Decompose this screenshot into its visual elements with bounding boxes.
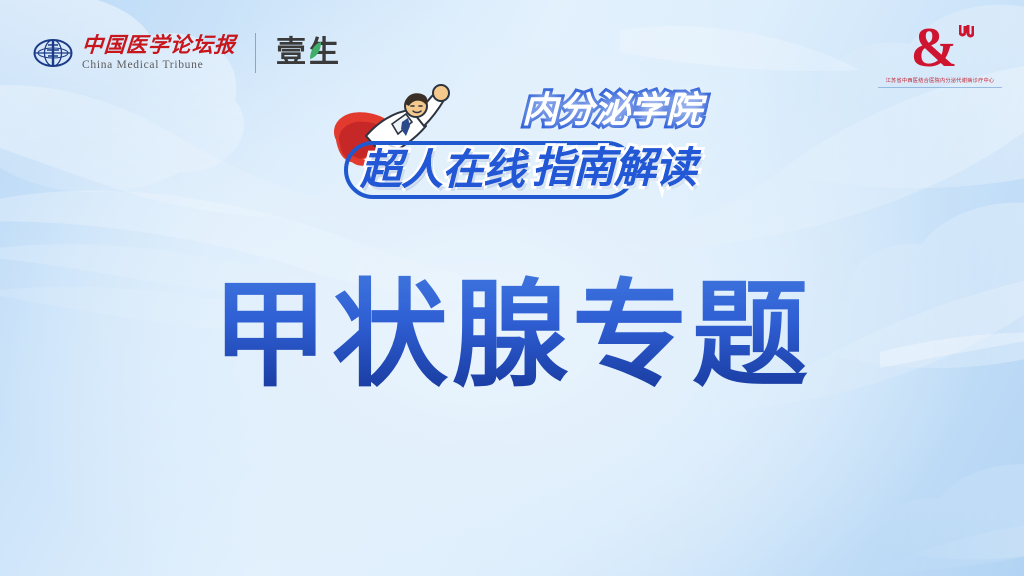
- page-title: 甲状腺专题: [0, 272, 1024, 400]
- brand-divider: [255, 33, 256, 73]
- cmt-brand-logo[interactable]: 中国医学论坛报 China Medical Tribune 壹生: [33, 33, 342, 73]
- ampersand-glyph: &: [911, 22, 958, 74]
- leaf-icon: [309, 41, 322, 60]
- cmt-chinese-name: 中国医学论坛报: [81, 35, 236, 56]
- cmt-english-name: China Medical Tribune: [82, 60, 236, 72]
- cmt-wordmark: 中国医学论坛报 China Medical Tribune: [82, 35, 236, 72]
- yisheng-logo[interactable]: 壹生: [276, 38, 342, 68]
- globe-icon: [33, 36, 73, 70]
- academy-label: 内分泌学院: [522, 88, 702, 134]
- program-badge: 超人在线 超人在线 内分泌学院 内分泌学院 指南解读 指南解读: [326, 84, 746, 206]
- guideline-label: 指南解读: [532, 139, 696, 197]
- partner-rule: [878, 87, 1002, 88]
- flourish-icon: [959, 24, 974, 44]
- program-pill-label: 超人在线: [360, 142, 524, 198]
- slide-canvas: 中国医学论坛报 China Medical Tribune 壹生 & 江苏省中西…: [0, 0, 1024, 576]
- partner-name: 江苏省中西医结合医院内分泌代谢病诊疗中心: [879, 76, 1001, 84]
- ampersand-mark: &: [878, 22, 1002, 74]
- partner-logo[interactable]: & 江苏省中西医结合医院内分泌代谢病诊疗中心: [878, 22, 1002, 88]
